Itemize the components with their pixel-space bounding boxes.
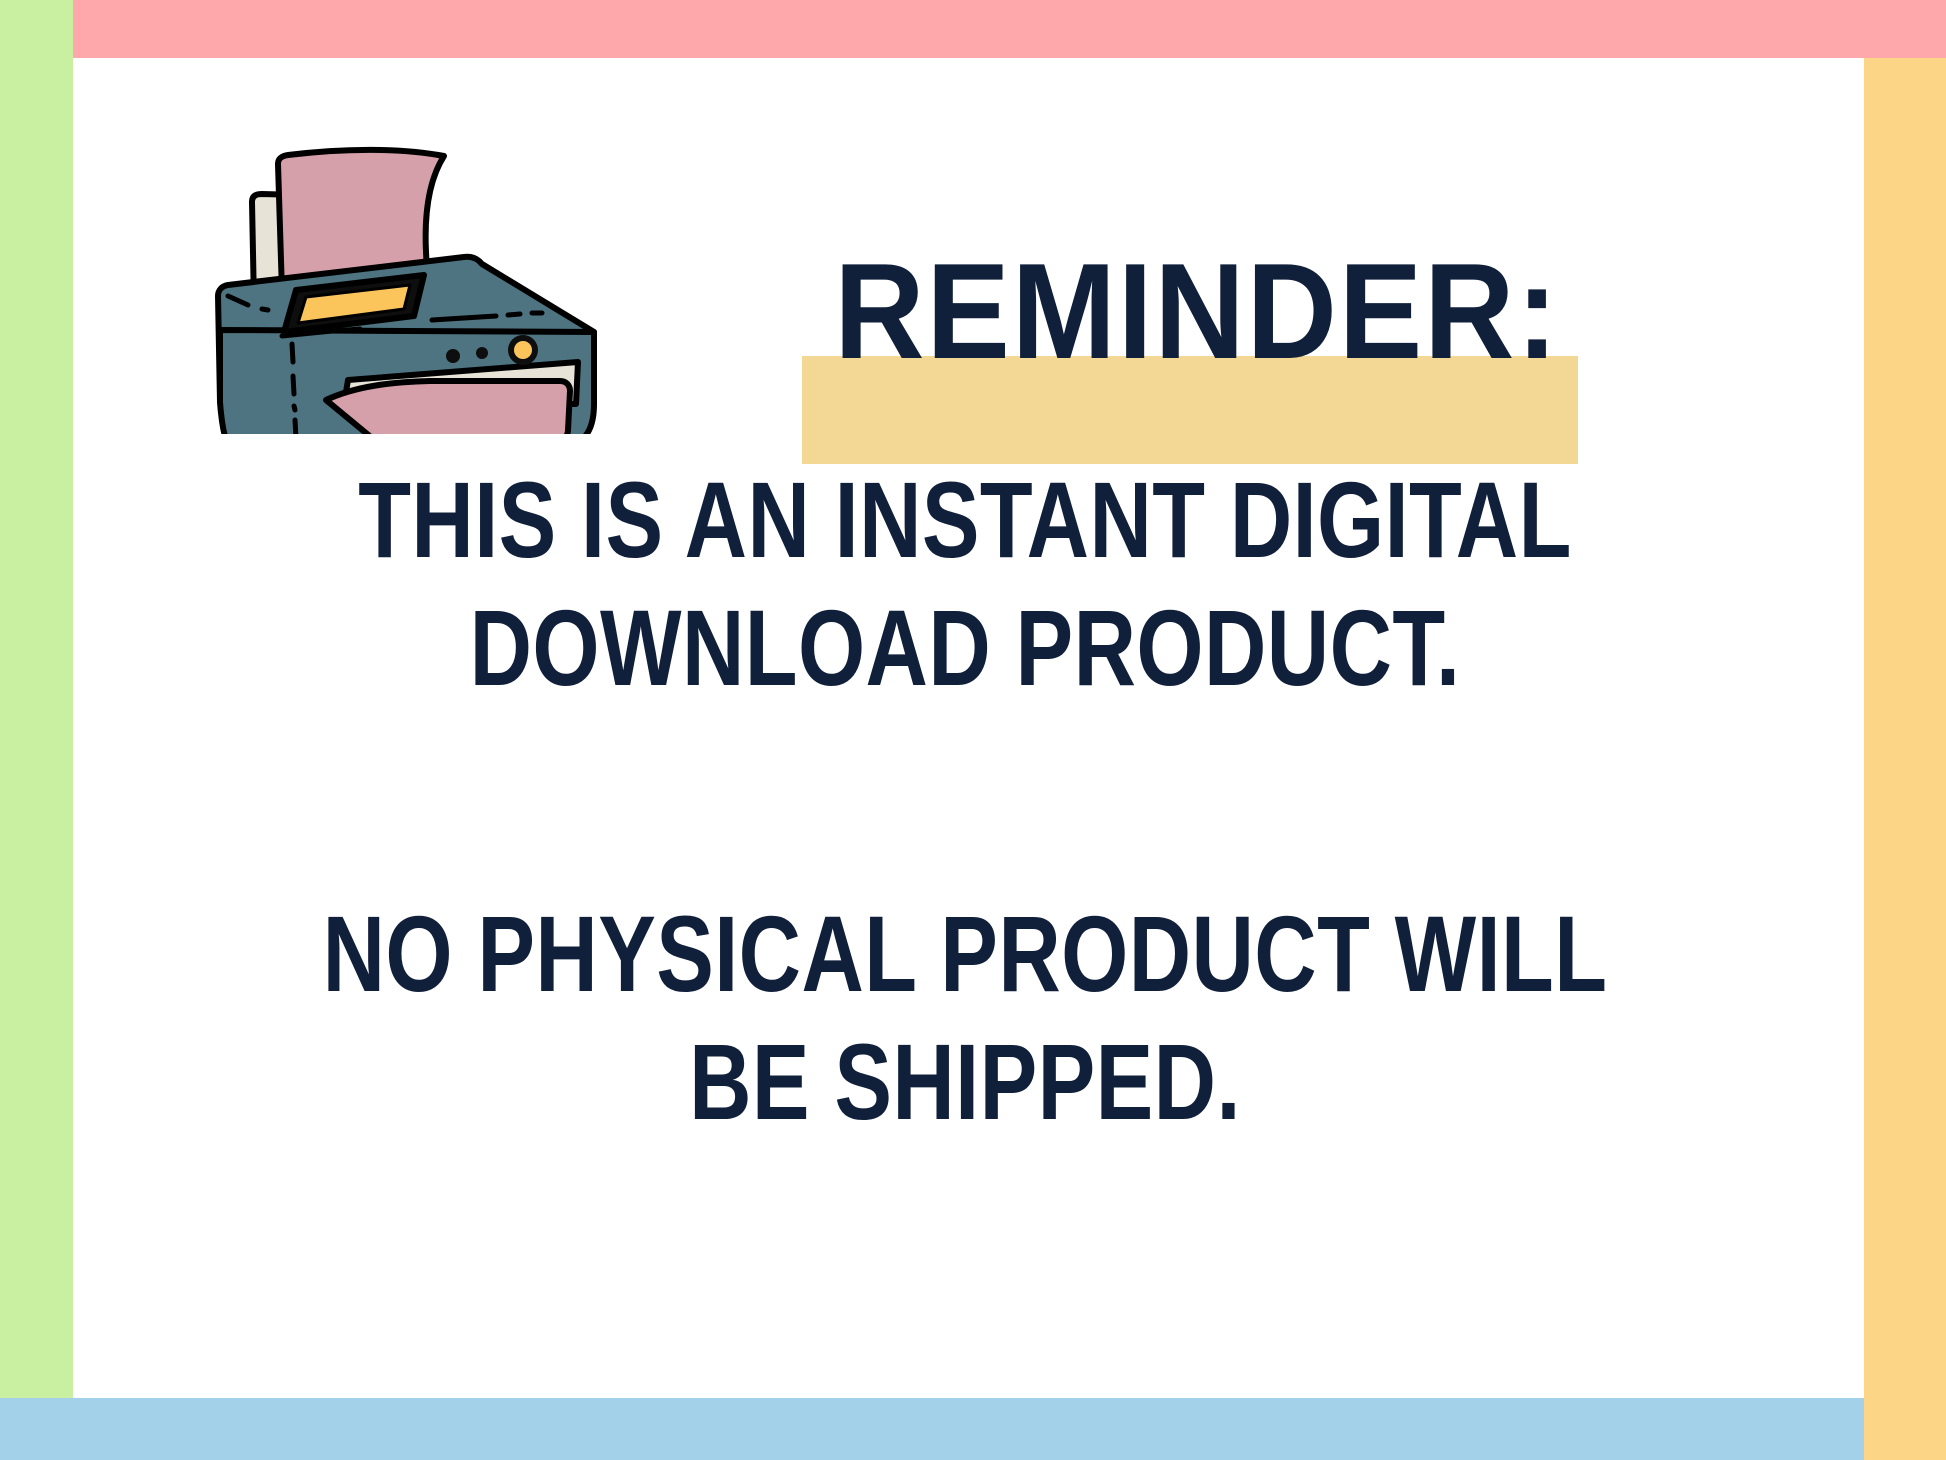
- printer-indicator-dot-left: [446, 349, 460, 363]
- top-decorative-band: [73, 0, 1946, 58]
- paragraph-spacer: [110, 712, 1820, 890]
- body-paragraph-2: NO PHYSICAL PRODUCT WILL BE SHIPPED.: [281, 890, 1649, 1146]
- printer-illustration: [196, 104, 616, 434]
- printer-detail-dash-2: [348, 329, 360, 330]
- printer-indicator-dot-right: [476, 347, 488, 359]
- printer-fold-seg-3: [294, 406, 295, 410]
- printer-detail-dash-1: [262, 309, 268, 310]
- poster-canvas: REMINDER: THIS IS AN INSTANT DIGITAL DOW…: [0, 0, 1946, 1460]
- printer-detail-dash-3: [508, 314, 520, 315]
- printer-fold-seg-1: [292, 344, 293, 362]
- bottom-decorative-band: [0, 1398, 1864, 1460]
- right-decorative-band: [1864, 58, 1946, 1460]
- body-copy: THIS IS AN INSTANT DIGITAL DOWNLOAD PROD…: [110, 456, 1820, 1146]
- body-paragraph-1: THIS IS AN INSTANT DIGITAL DOWNLOAD PROD…: [281, 456, 1649, 712]
- printer-power-button-icon: [514, 341, 532, 359]
- printer-fold-seg-2: [293, 376, 294, 394]
- headline-block: REMINDER:: [802, 236, 1592, 471]
- left-decorative-band: [0, 0, 73, 1398]
- page-title: REMINDER:: [834, 236, 1561, 386]
- printer-output-pink-sheet: [326, 381, 570, 434]
- printer-fold-seg-4: [295, 420, 296, 434]
